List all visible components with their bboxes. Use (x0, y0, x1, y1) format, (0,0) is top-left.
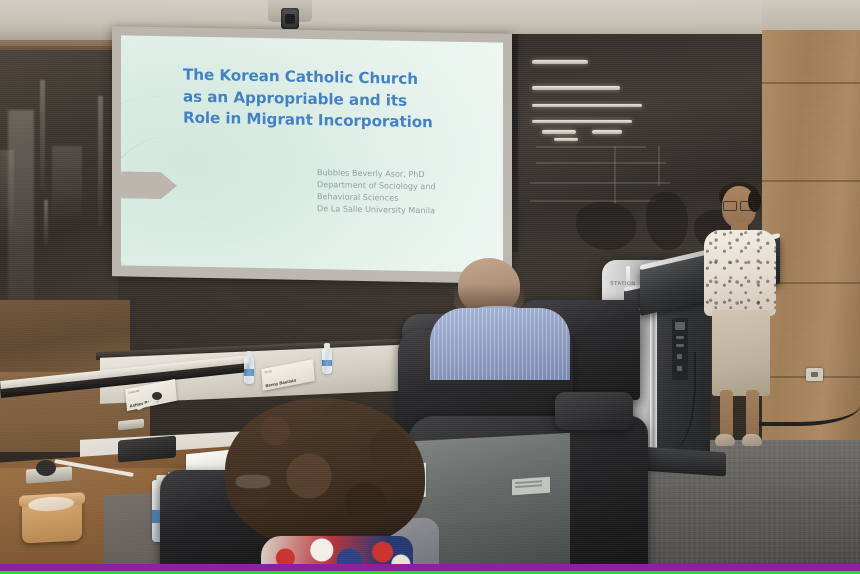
presenter-leg (746, 390, 759, 438)
light-tube (532, 60, 588, 64)
light-tube (532, 86, 620, 90)
attendee-striped-shirt (430, 308, 570, 380)
attendee-curly-hair (225, 398, 425, 548)
shelf-line (536, 162, 666, 164)
auditorium-chair-armrest (555, 392, 633, 430)
bottom-band-purple (0, 564, 860, 571)
power-outlet-icon (806, 368, 823, 381)
silhouette-object (576, 202, 636, 250)
slide-affiliation-line-3: De La Salle University Manila (317, 203, 497, 218)
presenter-shoe (742, 434, 762, 446)
reflection-streak (40, 80, 45, 190)
upper-wall-right (762, 0, 860, 34)
wood-seam (762, 82, 860, 84)
shelf-line (536, 146, 646, 148)
water-bottle (322, 348, 332, 374)
presenter-skirt (712, 310, 770, 396)
port[interactable] (675, 322, 685, 330)
presenter-glasses (723, 201, 754, 209)
reflection-streak (98, 96, 103, 226)
water-bottle (244, 356, 254, 384)
bottle-cap (324, 343, 330, 349)
bottle-label (322, 360, 332, 366)
reflection-streak (44, 200, 48, 245)
snack-box (22, 498, 82, 543)
slide-title: The Korean Catholic Church as an Appropr… (183, 65, 495, 136)
bottle-label (244, 369, 254, 375)
presenter-blouse (704, 230, 776, 316)
presenter-leg (720, 390, 733, 438)
slide-subtitle-block: Bubbles Beverly Asor, PhD Department of … (317, 167, 497, 218)
light-tube (532, 104, 642, 107)
attendee-foreground-curly-hair (225, 398, 425, 574)
bottle-cap (246, 351, 252, 357)
wood-seam (762, 180, 860, 182)
attendee-seated-blue-shirt (430, 258, 570, 378)
light-tube (592, 130, 622, 134)
shelf-line (530, 182, 670, 184)
presenter-person (700, 186, 784, 452)
conference-photo: The Korean Catholic Church as an Appropr… (0, 0, 860, 574)
port[interactable] (676, 336, 684, 339)
ceiling-projector-icon (281, 8, 299, 29)
shelf-upright (614, 146, 616, 204)
reflection-panel (0, 150, 14, 230)
reflection-panel (52, 146, 82, 216)
port[interactable] (676, 344, 684, 347)
presenter-shoe (715, 434, 735, 446)
projected-slide: The Korean Catholic Church as an Appropr… (121, 35, 503, 272)
light-tube (542, 130, 576, 134)
microphone-icon (36, 460, 56, 476)
shelf-upright (658, 146, 660, 186)
projection-screen-frame: The Korean Catholic Church as an Appropr… (112, 26, 512, 284)
silhouette-object (646, 192, 688, 250)
attendee-glasses (235, 474, 271, 489)
light-tube (532, 120, 632, 123)
light-tube (554, 138, 578, 141)
microphone-icon (152, 392, 162, 400)
